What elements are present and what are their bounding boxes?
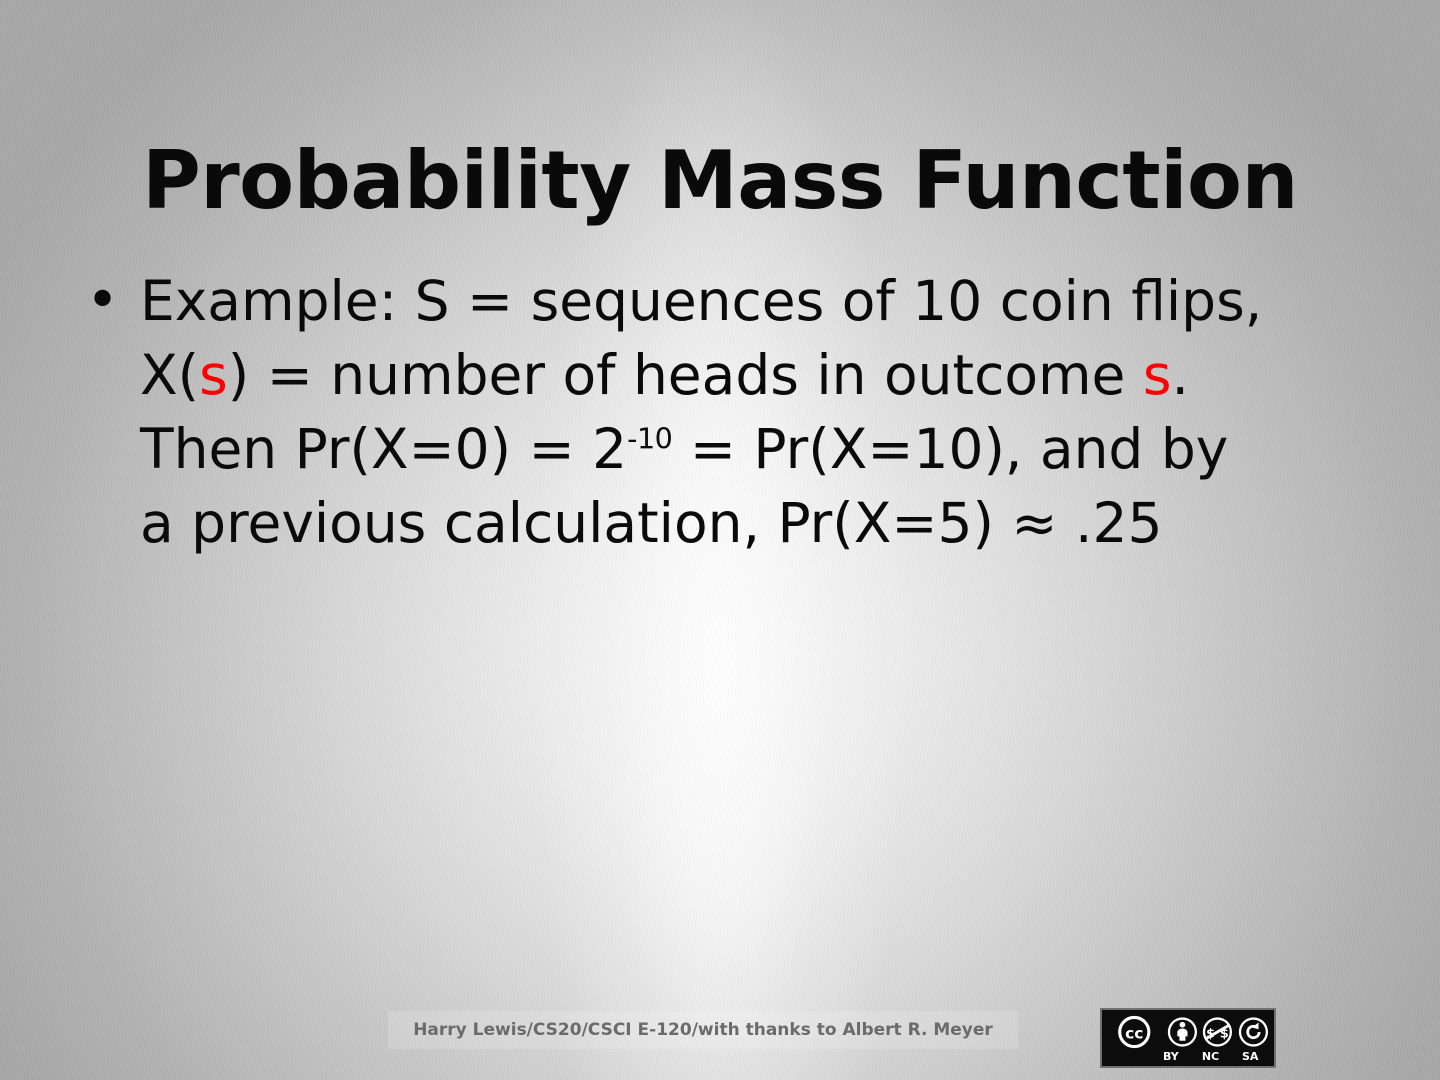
bullet-glyph: • — [78, 264, 140, 338]
footer-credit-text: Harry Lewis/CS20/CSCI E-120/with thanks … — [413, 1020, 993, 1040]
exponent-superscript: -10 — [627, 422, 672, 456]
variable-s-highlight-2: s — [1143, 343, 1172, 407]
share-alike-icon — [1237, 1014, 1270, 1050]
page-title: Probability Mass Function — [0, 138, 1440, 224]
cc-icon-row: cc $ $ — [1106, 1013, 1270, 1050]
bullet-item-text: Example: S = sequences of 10 coin flips,… — [140, 264, 1275, 560]
cc-label-sa: SA — [1230, 1050, 1270, 1064]
cc-label-row: BY NC SA — [1106, 1050, 1270, 1064]
variable-s-highlight-1: s — [199, 343, 228, 407]
text-segment-2: ) = number of heads in outcome — [228, 343, 1143, 407]
content-body: • Example: S = sequences of 10 coin flip… — [78, 264, 1318, 560]
cc-label-nc: NC — [1191, 1050, 1231, 1064]
cc-license-badge[interactable]: cc $ $ BY — [1100, 1008, 1276, 1068]
footer-credit-bar: Harry Lewis/CS20/CSCI E-120/with thanks … — [388, 1011, 1018, 1049]
slide-canvas: Probability Mass Function • Example: S =… — [0, 0, 1440, 1080]
person-icon — [1166, 1014, 1199, 1050]
cc-label-by: BY — [1151, 1050, 1191, 1064]
creative-commons-icon: cc — [1106, 1014, 1163, 1050]
list-item: • Example: S = sequences of 10 coin flip… — [78, 264, 1318, 560]
no-money-icon: $ $ — [1201, 1014, 1234, 1050]
svg-text:cc: cc — [1125, 1024, 1143, 1042]
